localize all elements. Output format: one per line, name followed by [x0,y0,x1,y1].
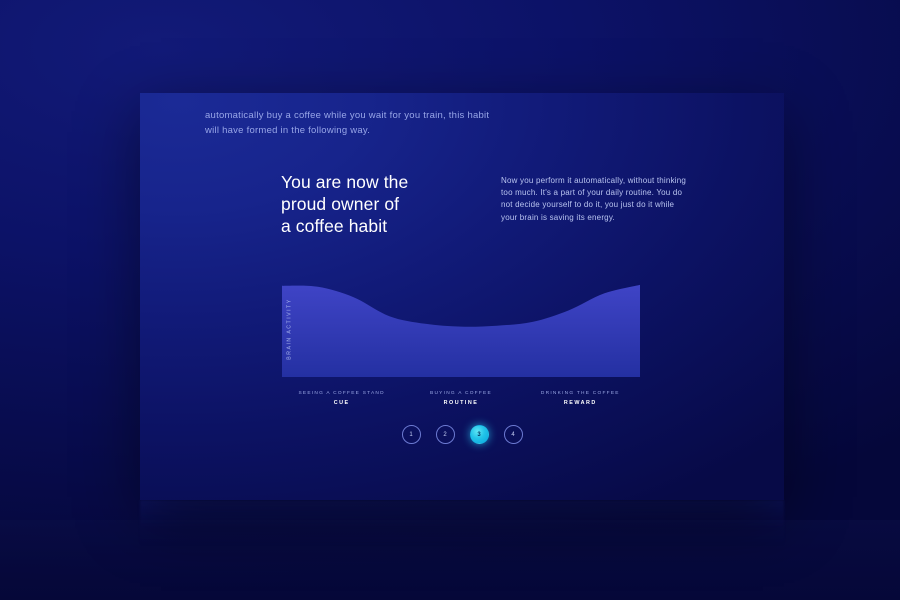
chart-stage-1: SEEING A COFFEE STANDCUE [282,391,401,406]
pagination-dot-3[interactable]: 3 [470,425,489,444]
pagination-dot-4[interactable]: 4 [504,425,523,444]
chart-stage-3: DRINKING THE COFFEEREWARD [521,391,640,406]
chart-svg [282,282,640,377]
page-title: You are now the proud owner of a coffee … [281,171,466,237]
slide-card: automatically buy a coffee while you wai… [140,93,784,500]
stage-caption: BUYING A COFFEE [401,391,520,396]
stage-name: REWARD [521,400,640,406]
intro-paragraph: automatically buy a coffee while you wai… [205,108,545,138]
chart-stage-legend: SEEING A COFFEE STANDCUEBUYING A COFFEER… [282,391,640,406]
copy-block: You are now the proud owner of a coffee … [281,171,741,237]
slide-stage: automatically buy a coffee while you wai… [0,0,900,600]
body-paragraph: Now you perform it automatically, withou… [501,171,691,224]
pagination-dot-2[interactable]: 2 [436,425,455,444]
stage-caption: SEEING A COFFEE STAND [282,391,401,396]
chart-stage-2: BUYING A COFFEEROUTINE [401,391,520,406]
chart-area-front [282,285,640,377]
pagination[interactable]: 1234 [140,425,784,444]
chart-y-axis-label: BRAIN ACTIVITY [287,282,299,377]
brain-activity-chart: BRAIN ACTIVITY [282,282,640,377]
stage-name: ROUTINE [401,400,520,406]
pagination-dot-1[interactable]: 1 [402,425,421,444]
stage-name: CUE [282,400,401,406]
card-reflection [140,500,784,546]
stage-caption: DRINKING THE COFFEE [521,391,640,396]
